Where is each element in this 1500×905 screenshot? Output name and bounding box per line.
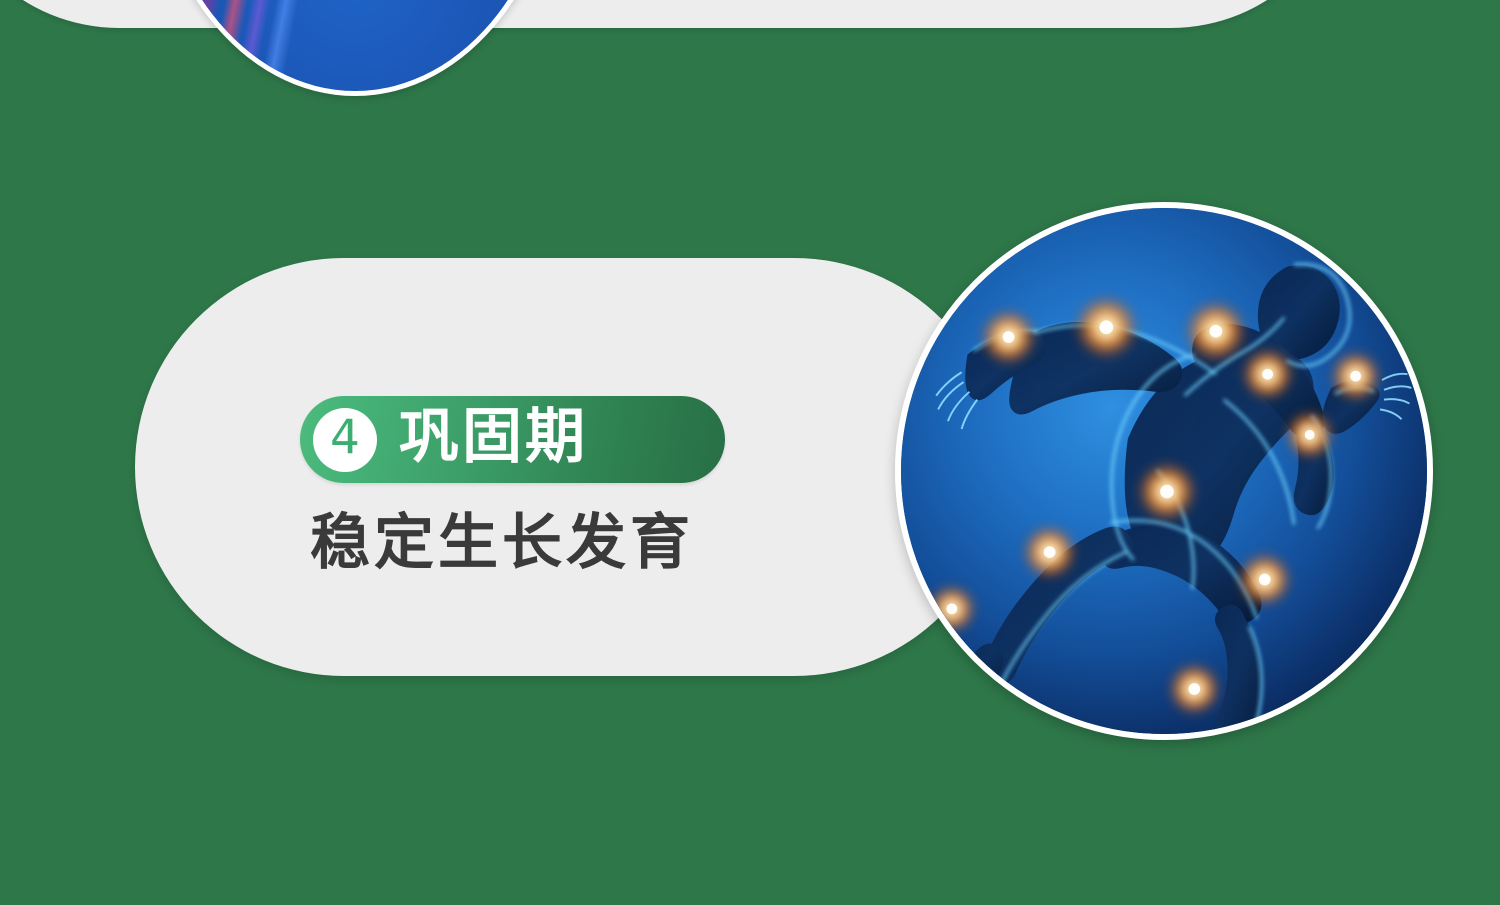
step-4-card: 4 巩固期 稳定生长发育	[135, 258, 1003, 676]
light-streaks-decoration	[153, 0, 557, 91]
promo-banner: 4 巩固期 稳定生长发育	[0, 0, 1500, 905]
step-subtitle: 稳定生长发育	[310, 513, 694, 573]
step-4-card-content: 4 巩固期 稳定生长发育	[135, 258, 1003, 676]
running-figure-illustration	[901, 208, 1427, 734]
spine-xray-circle-image	[148, 0, 562, 96]
step-number: 4	[330, 414, 360, 461]
step-title: 巩固期	[399, 407, 588, 467]
running-figure-joints-image	[895, 202, 1433, 740]
step-badge: 4 巩固期	[300, 396, 725, 483]
step-number-circle: 4	[313, 408, 377, 472]
